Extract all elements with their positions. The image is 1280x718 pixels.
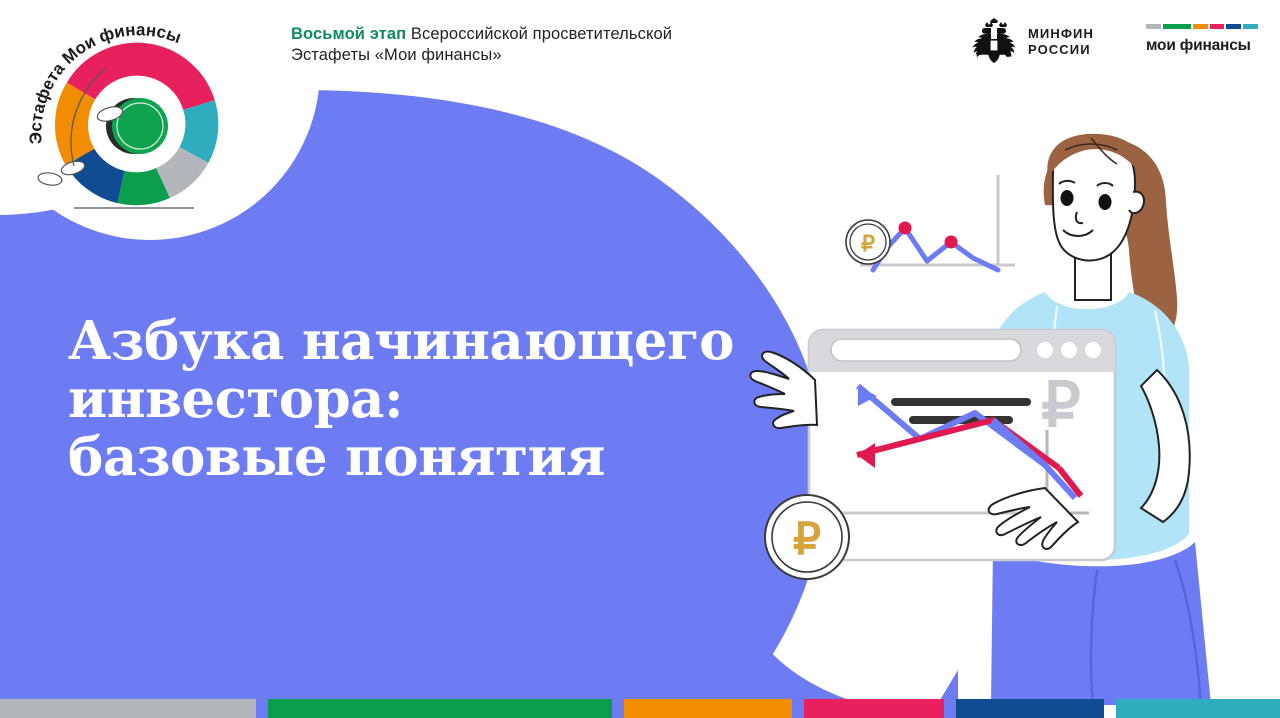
hand-left — [750, 352, 817, 429]
title-line-1: Азбука начинающего — [68, 312, 808, 370]
moi-finansy-wordmark: мои финансы — [1146, 37, 1258, 55]
event-stage-label: Восьмой этап — [291, 25, 406, 43]
color-bar-teal — [1243, 24, 1258, 29]
color-bar-blue — [1226, 24, 1241, 29]
russian-double-headed-eagle-icon — [972, 18, 1016, 66]
window-dot — [1061, 342, 1077, 358]
strip-segment-orange — [624, 699, 792, 718]
minfin-rossii-logo: МИНФИН РОССИИ — [972, 18, 1094, 66]
eye-left — [1061, 190, 1074, 206]
color-bar-green — [1163, 24, 1191, 29]
mini-line-chart: ₽ — [846, 175, 1015, 270]
presentation-slide: Эстафета Мои финансы — [0, 0, 1280, 718]
strip-segment-crimson — [804, 699, 944, 718]
ruble-glyph: ₽ — [861, 231, 875, 256]
coin-small: ₽ — [846, 220, 890, 264]
window-dot — [1085, 342, 1101, 358]
ruble-glyph: ₽ — [793, 515, 821, 564]
bottom-color-strip — [0, 699, 1280, 718]
eye-right — [1099, 194, 1112, 210]
event-subtitle-line2: Эстафеты «Мои финансы» — [291, 46, 502, 64]
event-subtitle: Восьмой этап Всероссийской просветительс… — [291, 24, 761, 66]
color-bar-grey — [1146, 24, 1161, 29]
coin-large: ₽ — [765, 495, 849, 579]
hero-illustration: ₽ — [745, 130, 1280, 705]
slide-title: Азбука начинающего инвестора: базовые по… — [68, 312, 808, 486]
title-line-3: базовые понятия — [68, 428, 808, 486]
strip-segment-teal — [1116, 699, 1280, 718]
strip-segment-blue — [956, 699, 1104, 718]
ruble-watermark: ₽ — [1041, 371, 1080, 440]
moi-finansy-color-bars — [1146, 24, 1258, 29]
event-subtitle-rest: Всероссийской просветительской — [406, 25, 672, 43]
minfin-line2: РОССИИ — [1028, 42, 1094, 58]
url-bar — [831, 339, 1021, 361]
estafeta-moi-finansy-logo: Эстафета Мои финансы — [22, 6, 252, 221]
moi-finansy-logo: мои финансы — [1146, 24, 1258, 55]
strip-segment-green — [268, 699, 612, 718]
color-bar-orange — [1193, 24, 1208, 29]
window-dot — [1037, 342, 1053, 358]
minfin-line1: МИНФИН — [1028, 26, 1094, 42]
chart-marker — [945, 236, 958, 249]
headline-bar — [891, 398, 1031, 406]
strip-segment-grey — [0, 699, 256, 718]
chart-marker — [899, 222, 912, 235]
color-bar-crimson — [1210, 24, 1225, 29]
title-line-2: инвестора: — [68, 370, 808, 428]
minfin-wordmark: МИНФИН РОССИИ — [1028, 26, 1094, 58]
